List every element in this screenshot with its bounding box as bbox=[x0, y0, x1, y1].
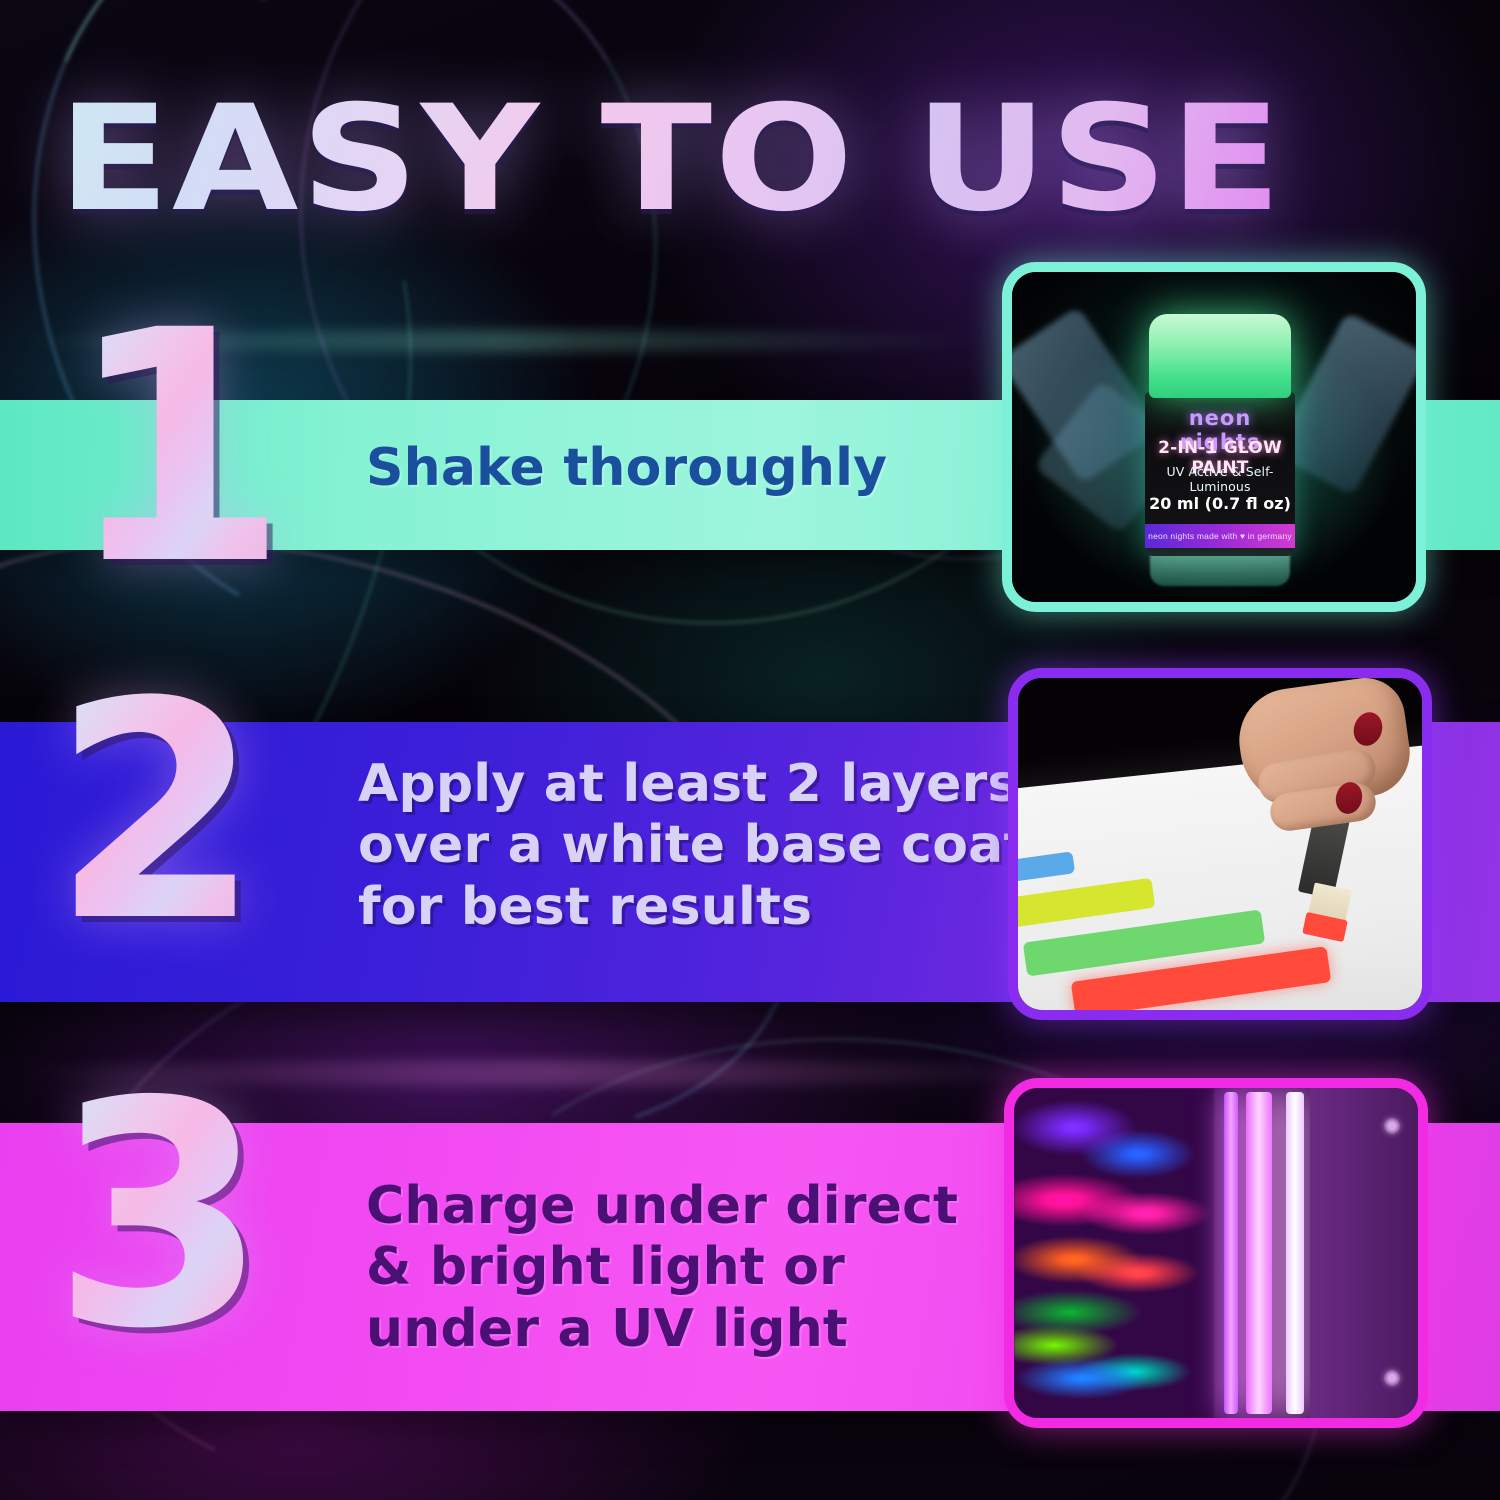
step-3-text: Charge under direct & bright light or un… bbox=[366, 1176, 958, 1360]
step-2-photo-card bbox=[1008, 668, 1432, 1020]
step-2-line-3: for best results bbox=[358, 877, 1028, 938]
step-3-line-3: under a UV light bbox=[366, 1299, 958, 1360]
step-1-text: Shake thoroughly bbox=[366, 438, 887, 498]
jar-origin-strip: neon nights made with ♥ in germany bbox=[1145, 524, 1295, 548]
step-2-number: 2 bbox=[52, 690, 261, 936]
uv-tube-1 bbox=[1224, 1092, 1238, 1414]
step-3-line-2: & bright light or bbox=[366, 1237, 958, 1298]
step-1-line-1: Shake thoroughly bbox=[366, 438, 887, 498]
uv-lamp-panel bbox=[1310, 1088, 1420, 1418]
step-3-number: 3 bbox=[52, 1090, 268, 1344]
page-title: EASY TO USE bbox=[58, 86, 1500, 232]
lamp-screw-top bbox=[1384, 1118, 1400, 1134]
jar-lid bbox=[1149, 314, 1291, 398]
glow-paint-jar-photo: neon nights 2-IN-1 GLOW PAINT UV Active … bbox=[1012, 272, 1416, 602]
step-1-photo-card: neon nights 2-IN-1 GLOW PAINT UV Active … bbox=[1002, 262, 1426, 612]
step-2-line-1: Apply at least 2 layers bbox=[358, 754, 1028, 815]
glowing-artwork bbox=[1014, 1088, 1214, 1418]
jar-origin-text: neon nights made with ♥ in germany bbox=[1148, 531, 1292, 541]
uv-tube-2 bbox=[1246, 1092, 1272, 1414]
uv-tube-3 bbox=[1286, 1092, 1304, 1414]
step-2-text: Apply at least 2 layers over a white bas… bbox=[358, 754, 1028, 938]
step-3-photo-card bbox=[1004, 1078, 1428, 1428]
jar-base bbox=[1150, 552, 1290, 586]
step-3-line-1: Charge under direct bbox=[366, 1176, 958, 1237]
step-1-number: 1 bbox=[66, 318, 289, 580]
jar-subtitle: UV Active & Self-Luminous bbox=[1145, 464, 1295, 494]
easy-to-use-infographic: EASY TO USE 1 2 3 Shake thoroughly Apply… bbox=[0, 0, 1500, 1500]
step-2-line-2: over a white base coat bbox=[358, 815, 1028, 876]
jar-volume: 20 ml (0.7 fl oz) bbox=[1145, 494, 1295, 513]
uv-light-photo bbox=[1014, 1088, 1418, 1418]
painting-demo-photo bbox=[1018, 678, 1422, 1010]
lamp-screw-bottom bbox=[1384, 1370, 1400, 1386]
